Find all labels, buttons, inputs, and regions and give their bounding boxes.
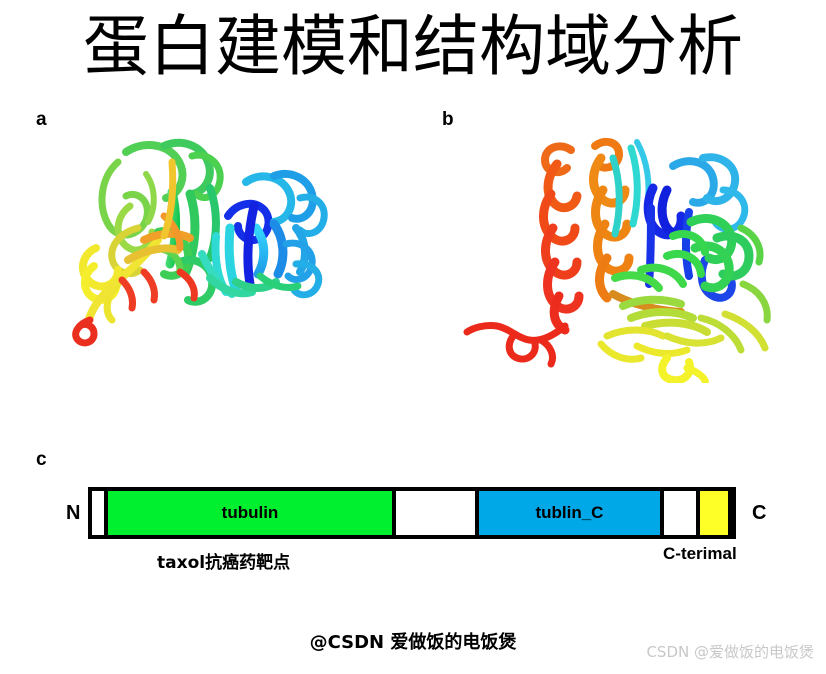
protein-structure-a bbox=[60, 132, 350, 347]
page-title: 蛋白建模和结构域分析 bbox=[0, 4, 826, 90]
n-terminus-label: N bbox=[66, 503, 80, 523]
panel-letter-b: b bbox=[442, 110, 454, 129]
protein-ribbon-a-svg bbox=[60, 132, 350, 347]
domain-architecture-bar: tubulintublin_C bbox=[88, 487, 736, 539]
protein-structure-b bbox=[455, 128, 775, 383]
annotation-c-terimal: C-terimal bbox=[663, 544, 737, 564]
domain-segment-tubulin: tubulin bbox=[104, 491, 396, 535]
domain-segment-c-terminal bbox=[696, 491, 732, 535]
domain-segment-tublin_C: tublin_C bbox=[475, 491, 665, 535]
protein-ribbon-b-svg bbox=[455, 128, 775, 383]
panel-letter-c: c bbox=[36, 450, 47, 469]
domain-segment-linker-1 bbox=[396, 491, 474, 535]
domain-segment-label: tublin_C bbox=[535, 503, 603, 523]
panel-letter-a: a bbox=[36, 110, 47, 129]
c-terminus-label: C bbox=[752, 503, 766, 523]
domain-segment-n-leader bbox=[92, 491, 104, 535]
domain-segment-linker-2 bbox=[664, 491, 696, 535]
annotation-taxol-target: taxol抗癌药靶点 bbox=[157, 553, 290, 573]
csdn-watermark: CSDN @爱做饭的电饭煲 bbox=[646, 641, 814, 662]
domain-segment-label: tubulin bbox=[222, 503, 279, 523]
